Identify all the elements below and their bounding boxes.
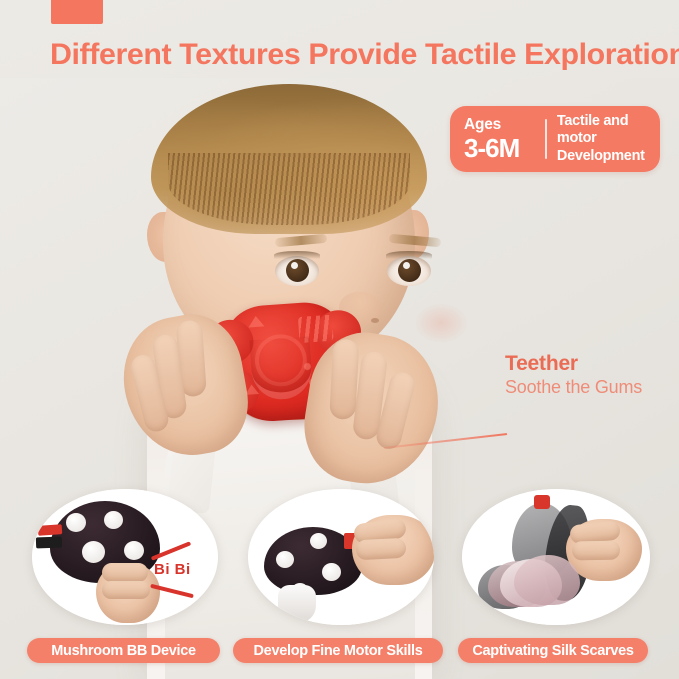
page-title: Different Textures Provide Tactile Explo… [50, 38, 668, 72]
age-badge: Ages 3-6M Tactile and motor Development [450, 106, 660, 172]
age-badge-left: Ages 3-6M [450, 117, 543, 161]
baby-hair [151, 84, 427, 234]
cheek-right [413, 302, 469, 344]
benefit-line-2: Development [557, 148, 660, 165]
mushroom-dot [66, 513, 86, 532]
callout-title: Teether [505, 352, 642, 376]
caption-fine-motor-skills: Develop Fine Motor Skills [233, 638, 443, 663]
scarf-stack-rose [514, 555, 580, 605]
teether-callout: Teether Soothe the Gums [505, 352, 642, 398]
mushroom-dot [104, 511, 123, 529]
finger [356, 538, 407, 561]
callout-subtitle: Soothe the Gums [505, 377, 642, 398]
eye-right [387, 256, 431, 286]
mushroom-red-tag [38, 524, 63, 536]
eyelash-left [274, 251, 320, 259]
caption-silk-scarves: Captivating Silk Scarves [458, 638, 648, 663]
eyelash-right [386, 251, 432, 259]
scarf-knot-red [534, 495, 550, 509]
teether-callout-line [384, 440, 508, 456]
mushroom-stem [278, 585, 316, 623]
teether-star-texture [248, 315, 265, 327]
benefit-line-1: Tactile and motor [557, 113, 660, 147]
iris-right [398, 259, 421, 282]
age-badge-benefit: Tactile and motor Development [557, 113, 660, 164]
finger [102, 563, 148, 582]
ages-label: Ages [464, 117, 543, 133]
inset-mushroom-bb-device: Bi Bi [32, 489, 218, 625]
eye-left [275, 256, 319, 286]
eyebrow-left [275, 234, 328, 247]
mushroom-dot [310, 533, 327, 549]
inset-fine-motor-skills [248, 489, 434, 625]
mushroom-dot [124, 541, 144, 560]
product-infographic: Different Textures Provide Tactile Explo… [0, 0, 679, 679]
badge-divider [545, 119, 547, 159]
iris-left [286, 259, 309, 282]
nostril-right [371, 318, 379, 323]
inset-silk-scarves [462, 489, 650, 625]
finger [102, 581, 150, 599]
mushroom-dot [276, 551, 294, 568]
bibi-sound-text: Bi Bi [154, 561, 191, 578]
finger [572, 541, 620, 561]
corner-accent-block [51, 0, 103, 24]
mushroom-black-tag [36, 537, 62, 549]
age-range-value: 3-6M [464, 135, 543, 161]
caption-mushroom-bb-device: Mushroom BB Device [27, 638, 220, 663]
mushroom-dot [82, 541, 105, 563]
mushroom-dot [322, 563, 341, 581]
